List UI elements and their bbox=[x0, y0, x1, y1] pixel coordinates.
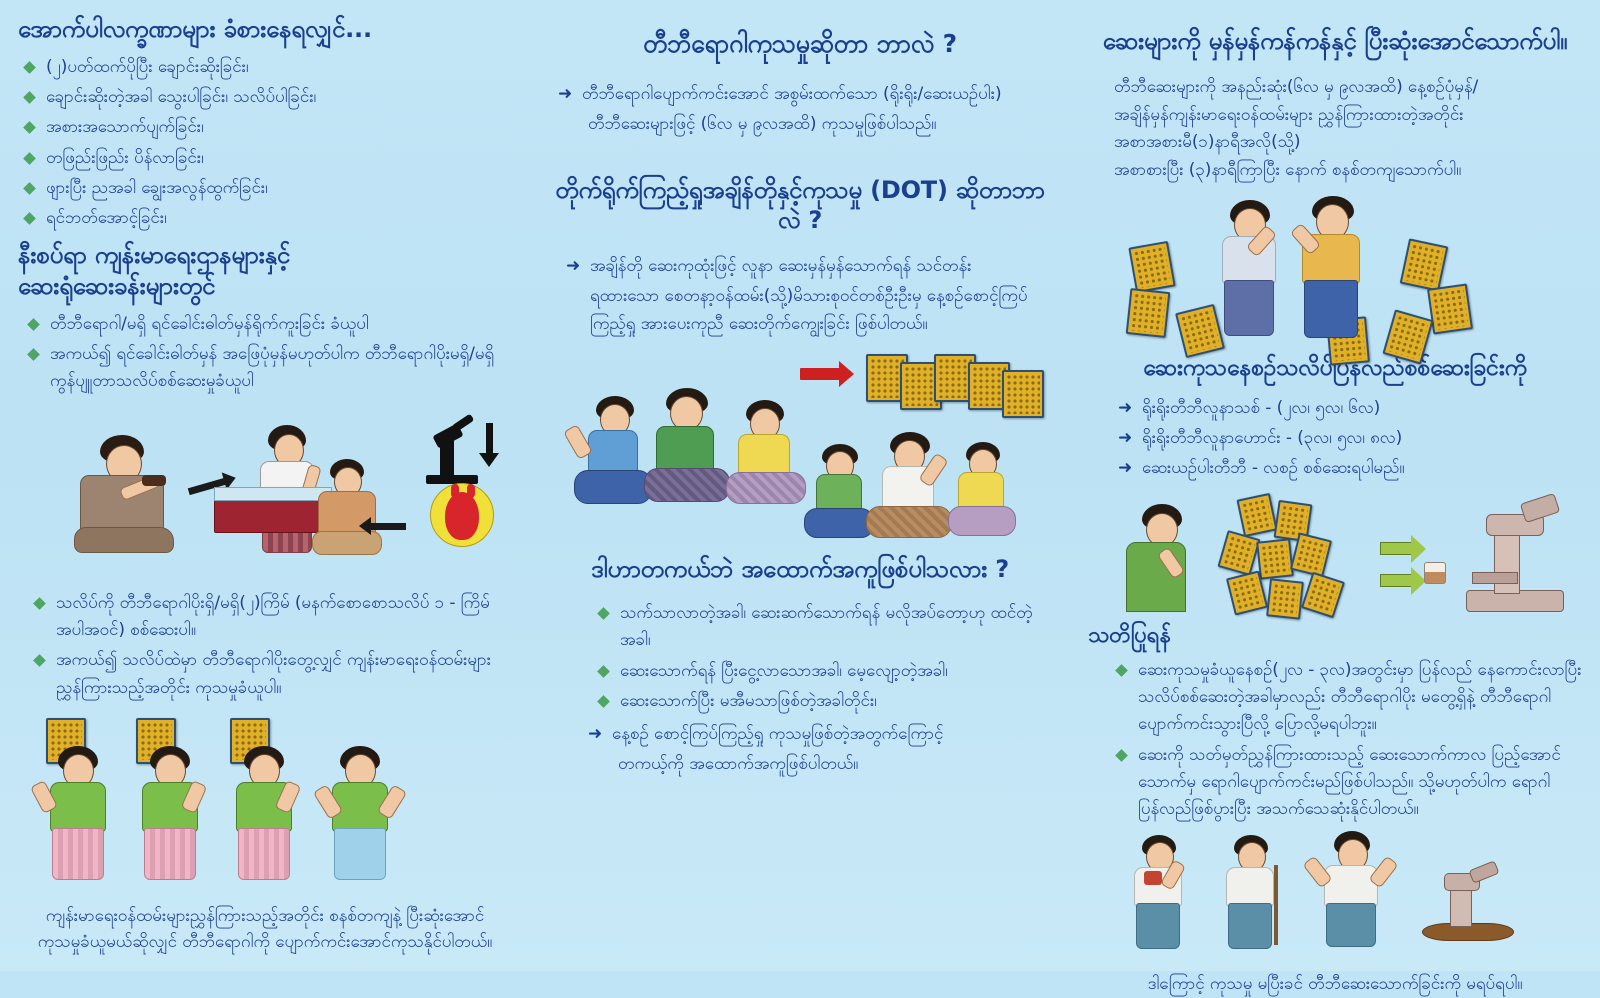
treatment-line1: တီဘီရောဂါပျောက်ကင်းအောင် အစွမ်းထက်သော (ရ… bbox=[582, 84, 1001, 104]
figure-healthy-stage bbox=[1310, 831, 1396, 947]
medicine-packet bbox=[1217, 530, 1260, 576]
heading-take-medicine: ဆေးများကို မှန်မှန်ကန်ကန်နှင့် ပြီးဆုံးအ… bbox=[1088, 26, 1582, 56]
heading-where-line1: နီးစပ်ရာ ကျန်းမာရေးဌာနများနှင့် bbox=[18, 240, 512, 271]
dot-line1: အချိန်တို ဆေးကုထုံးဖြင့် လူနာ ဆေးမှန်မှန… bbox=[590, 256, 972, 276]
figure-patient-2 bbox=[128, 746, 214, 886]
list-item: သက်သာလာတဲ့အခါ၊ ဆေးဆက်သောက်ရန် မလိုအပ်တော… bbox=[596, 600, 1052, 654]
heading-what-is-treatment: တီဘီရောဂါကုသမှုဆိုတာ ဘာလဲ ? bbox=[548, 28, 1052, 59]
medicine-packet bbox=[1256, 539, 1294, 580]
list-item: တီဘီရောဂါ/မရှိ ရင်ခေါင်းဓါတ်မှန်ရိုက်ကူး… bbox=[26, 311, 512, 338]
illustration-recovery-sequence bbox=[1088, 829, 1582, 949]
medicine-packet bbox=[1002, 370, 1044, 418]
green-arrow-icon bbox=[1380, 542, 1412, 555]
list-item: (၂)ပတ်ထက်ပိုပြီး ချောင်းဆိုးခြင်း၊ bbox=[22, 54, 512, 81]
flow-arrow-left bbox=[370, 523, 406, 530]
take-medicine-line1: တီဘီဆေးများကို အနည်းဆုံး(၆လ မှ ၉လအထိ) နေ… bbox=[1114, 74, 1582, 102]
take-medicine-line2: အချိန်မှန်ကျန်းမာရေးဝန်ထမ်းများ ညွှန်ကြာ… bbox=[1114, 102, 1582, 130]
list-item: ရိုးရိုးတီဘီလူနာသစ် - (၂လ၊ ၅လ၊ ၆လ) bbox=[1118, 395, 1582, 422]
microscope-icon bbox=[418, 419, 484, 485]
list-item: ဆေးကို သတ်မှတ်ညွှန်ကြားထားသည့် ဆေးသောက်က… bbox=[1114, 742, 1582, 824]
treatment-body: တီဘီရောဂါပျောက်ကင်းအောင် အစွမ်းထက်သော (ရ… bbox=[558, 81, 1052, 108]
take-medicine-line4: အစာစားပြီး (၃)နာရီကြာပြီး နောက် စနစ်တကျသ… bbox=[1114, 157, 1582, 185]
list-item: ချောင်းဆိုးတဲ့အခါ သွေးပါခြင်း၊ သလိပ်ပါခြ… bbox=[22, 84, 512, 111]
list-item: ဆေးကုသမှုခံယူနေစဉ်(၂လ - ၃လ)အတွင်းမှာ ပြန… bbox=[1114, 657, 1582, 739]
dot-line3: ကြည့်ရှု အားပေးကုညီ ဆေးတိုက်ကျွေးခြင်း ဖ… bbox=[590, 311, 1052, 339]
red-arrow-icon bbox=[800, 368, 840, 380]
left-footer-line2: ကုသမှုခံယူမယ်ဆိုလျှင် တီဘီရောဂါကို ပျောက… bbox=[18, 929, 512, 955]
left-column: အောက်ပါလက္ခဏာများ ခံစားနေရလျှင်... (၂)ပတ… bbox=[0, 0, 530, 971]
middle-column: တီဘီရောဂါကုသမှုဆိုတာ ဘာလဲ ? တီဘီရောဂါပျေ… bbox=[530, 0, 1070, 971]
illustration-dot-family bbox=[548, 348, 1052, 538]
list-item: တီဘီရောဂါပျောက်ကင်းအောင် အစွမ်းထက်သော (ရ… bbox=[558, 81, 1052, 108]
sputum-check-list: သလိပ်ကို တီဘီရောဂါပိုးရှိ/မရှိ(၂)ကြိမ် (… bbox=[32, 590, 512, 702]
figure-child-2 bbox=[944, 442, 1026, 538]
list-item: သလိပ်ကို တီဘီရောဂါပိုးရှိ/မရှိ(၂)ကြိမ် (… bbox=[32, 590, 512, 644]
heading-symptoms: အောက်ပါလက္ခဏာများ ခံစားနေရလျှင်... bbox=[18, 14, 512, 44]
right-footer-caption: ဒါကြောင့် ကုသမှု မပြီးခင် တီဘီဆေးသောက်ခြ… bbox=[1088, 971, 1582, 997]
medicine-packet bbox=[1400, 238, 1449, 291]
flow-arrow-down-head bbox=[479, 453, 499, 467]
list-item: ဆေးယဉ်ပါးတီဘီ - လစဉ် စစ်ဆေးရပါမည်။ bbox=[1118, 455, 1582, 482]
list-item: အကယ်၍ သလိပ်ထဲမှာ တီဘီရောဂါပိုးတွေ့လျှင် … bbox=[32, 647, 512, 701]
helpful-list: သက်သာလာတဲ့အခါ၊ ဆေးဆက်သောက်ရန် မလိုအပ်တော… bbox=[596, 600, 1052, 715]
medicine-packet bbox=[1266, 579, 1304, 620]
sputum-cup-icon bbox=[1424, 562, 1446, 584]
list-item: ရင်ဘတ်အောင့်ခြင်း၊ bbox=[22, 205, 512, 232]
followup-list: ရိုးရိုးတီဘီလူနာသစ် - (၂လ၊ ၅လ၊ ၆လ) ရိုးရ… bbox=[1118, 395, 1582, 483]
illustration-patients-taking-medicine bbox=[18, 712, 512, 897]
heading-dot: တိုက်ရိုက်ကြည့်ရှုအချိန်တိုနှင့်ကုသမှု (… bbox=[548, 175, 1052, 235]
flow-arrow-down bbox=[486, 423, 493, 455]
list-item: ဖျားပြီး ညအခါ ချွေးအလွန်ထွက်ခြင်း၊ bbox=[22, 175, 512, 202]
figure-woman-drinking bbox=[1204, 200, 1296, 340]
heading-is-it-helpful: ဒါဟာတကယ်ဘဲ အထောက်အကူဖြစ်ပါသလား ? bbox=[548, 554, 1052, 584]
medicine-packet bbox=[1126, 288, 1171, 338]
brochure-page: အောက်ပါလက္ခဏာများ ခံစားနေရလျှင်... (၂)ပတ… bbox=[0, 0, 1600, 971]
lab-microscope-icon bbox=[1460, 498, 1570, 614]
medicine-packet bbox=[1290, 533, 1332, 578]
take-medicine-body: တီဘီဆေးများကို အနည်းဆုံး(၆လ မှ ၉လအထိ) နေ… bbox=[1114, 74, 1582, 184]
list-item: တဖြည်းဖြည်း ပိန်လာခြင်း၊ bbox=[22, 145, 512, 172]
helpful-conclusion: နေ့စဉ် စောင့်ကြပ်ကြည့်ရှု ကုသမှုဖြစ်တဲ့အ… bbox=[588, 721, 1052, 748]
left-footer-caption: ကျန်းမာရေးဝန်ထမ်းများညွှန်ကြားသည့်အတိုင်… bbox=[18, 903, 512, 956]
left-footer-line1: ကျန်းမာရေးဝန်ထမ်းများညွှန်ကြားသည့်အတိုင်… bbox=[18, 903, 512, 929]
caution-list: ဆေးကုသမှုခံယူနေစဉ်(၂လ - ၃လ)အတွင်းမှာ ပြန… bbox=[1114, 657, 1582, 823]
list-item: ဆေးသောက်ပြီး မအီမသာဖြစ်တဲ့အခါတိုင်း၊ bbox=[596, 688, 1052, 715]
illustration-taking-medicine bbox=[1088, 190, 1582, 340]
medicine-packet bbox=[1301, 572, 1345, 619]
illustration-sputum-test bbox=[1088, 490, 1582, 620]
symptom-list: (၂)ပတ်ထက်ပိုပြီး ချောင်းဆိုးခြင်း၊ ချောင… bbox=[22, 54, 512, 232]
figure-walking-stage bbox=[1214, 835, 1292, 947]
green-arrow-icon bbox=[1380, 574, 1412, 587]
figure-sick-stage bbox=[1122, 835, 1200, 947]
list-item: အကယ်၍ ရင်ခေါင်းဓါတ်မှန် အဖြေပုံမှန်မဟုတ်… bbox=[26, 341, 512, 395]
germ-icon bbox=[430, 483, 494, 547]
lab-equipment-icon bbox=[1422, 865, 1514, 943]
medicine-packet bbox=[1427, 284, 1473, 335]
list-item: အချိန်တို ဆေးကုထုံးဖြင့် လူနာ ဆေးမှန်မှန… bbox=[566, 253, 1052, 280]
take-medicine-line3: အစာအစားမီ(၁)နာရီအလို(သို့) bbox=[1114, 129, 1582, 157]
figure-man-drinking bbox=[1284, 196, 1380, 342]
figure-patient-3 bbox=[222, 746, 308, 886]
conclusion-line1: နေ့စဉ် စောင့်ကြပ်ကြည့်ရှု ကုသမှုဖြစ်တဲ့အ… bbox=[612, 724, 943, 744]
heading-where-line2: ဆေးရုံဆေးခန်းများတွင် bbox=[18, 271, 512, 302]
figure-coughing-man bbox=[1118, 504, 1198, 616]
illustration-diagnosis-flow bbox=[18, 401, 512, 586]
list-item: အစားအသောက်ပျက်ခြင်း၊ bbox=[22, 114, 512, 141]
figure-seated-patient bbox=[70, 435, 180, 555]
figure-seated-visitor bbox=[310, 459, 388, 559]
dot-body: အချိန်တို ဆေးကုထုံးဖြင့် လူနာ ဆေးမှန်မှန… bbox=[566, 253, 1052, 280]
figure-patient-1 bbox=[36, 746, 122, 886]
conclusion-line2: တကယ့်ကို အထောက်အကူဖြစ်ပါတယ်။ bbox=[618, 751, 1052, 779]
where-list: တီဘီရောဂါ/မရှိ ရင်ခေါင်းဓါတ်မှန်ရိုက်ကူး… bbox=[26, 311, 512, 396]
heading-caution: သတိပြုရန် bbox=[1088, 622, 1582, 651]
treatment-line2: တီဘီဆေးများဖြင့် (၆လ မှ ၉လအထိ) ကုသမှုဖြစ… bbox=[558, 111, 1052, 139]
figure-patient-4 bbox=[318, 746, 404, 886]
medicine-packet bbox=[1236, 493, 1277, 537]
list-item: ဆေးသောက်ရန် ပြီးငွေ့လာသောအခါ၊ မေ့လျော့တဲ… bbox=[596, 658, 1052, 685]
right-column: ဆေးများကို မှန်မှန်ကန်ကန်နှင့် ပြီးဆုံးအ… bbox=[1070, 0, 1600, 971]
medicine-packet bbox=[1128, 241, 1175, 293]
dot-line2: ရထားသော စေတနာ့ဝန်ထမ်း(သို့)မိသားစုဝင်တစ်… bbox=[590, 283, 1052, 311]
list-item: နေ့စဉ် စောင့်ကြပ်ကြည့်ရှု ကုသမှုဖြစ်တဲ့အ… bbox=[588, 721, 1052, 748]
list-item: ရိုးရိုးတီဘီလူနာဟောင်း - (၃လ၊ ၅လ၊ ၈လ) bbox=[1118, 425, 1582, 452]
